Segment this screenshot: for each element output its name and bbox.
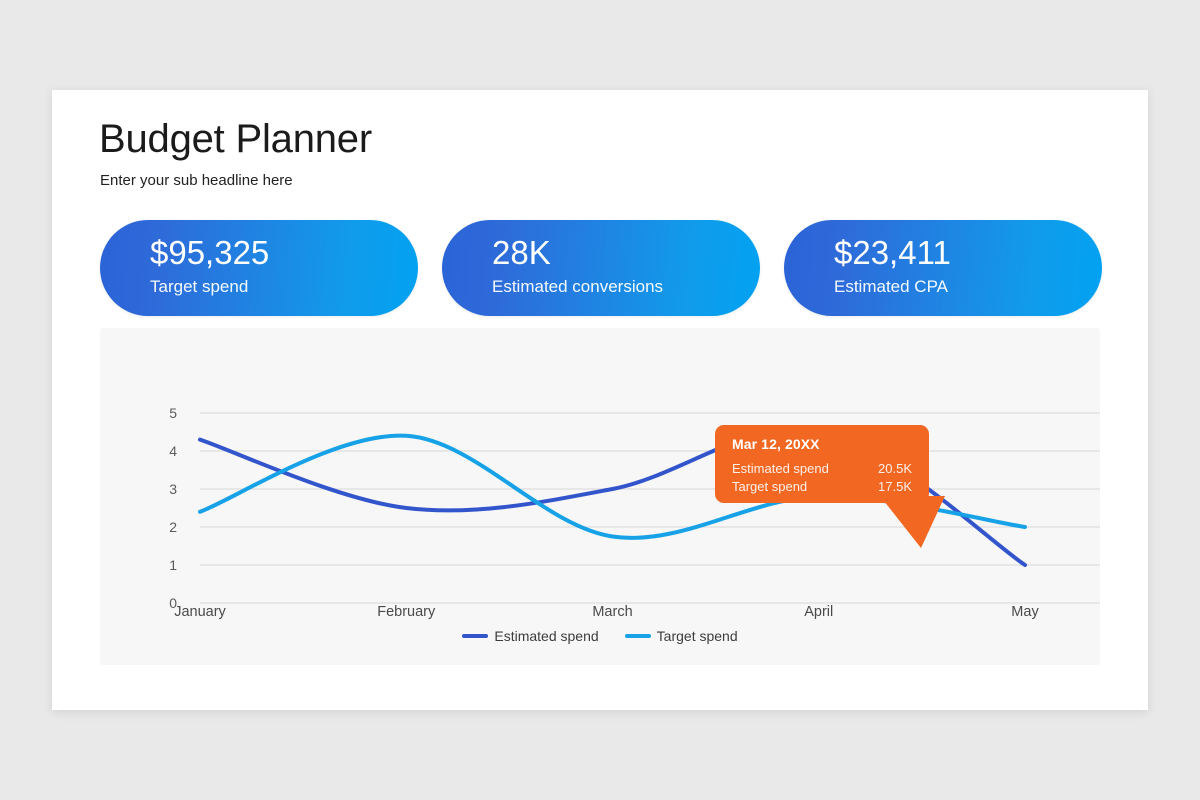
x-axis-tick: March	[543, 604, 683, 620]
legend-item[interactable]: Estimated spend	[462, 628, 598, 644]
x-axis-tick: May	[955, 604, 1095, 620]
y-axis-tick: 2	[155, 520, 177, 534]
kpi-card-row: $95,325 Target spend 28K Estimated conve…	[100, 220, 1102, 316]
page-subtitle: Enter your sub headline here	[100, 172, 293, 189]
y-axis-tick: 5	[155, 406, 177, 420]
chart-legend: Estimated spendTarget spend	[100, 628, 1100, 644]
y-axis-tick: 3	[155, 482, 177, 496]
chart-panel: 012345 JanuaryFebruaryMarchAprilMay Mar …	[100, 328, 1100, 665]
kpi-card-target-spend[interactable]: $95,325 Target spend	[100, 220, 418, 316]
slide-card: Budget Planner Enter your sub headline h…	[52, 90, 1148, 710]
kpi-label: Estimated conversions	[492, 277, 663, 297]
tooltip-row-label: Target spend	[732, 479, 807, 494]
y-axis-tick: 4	[155, 444, 177, 458]
kpi-card-estimated-conversions[interactable]: 28K Estimated conversions	[442, 220, 760, 316]
tooltip-title: Mar 12, 20XX	[732, 436, 820, 452]
kpi-label: Estimated CPA	[834, 277, 948, 297]
x-axis-tick: January	[130, 604, 270, 620]
tooltip-row-label: Estimated spend	[732, 461, 829, 476]
tooltip-row-value: 17.5K	[878, 479, 912, 494]
legend-color-swatch	[462, 634, 488, 638]
kpi-value: $95,325	[150, 234, 269, 272]
legend-label: Estimated spend	[494, 628, 598, 644]
legend-label: Target spend	[657, 628, 738, 644]
kpi-value: 28K	[492, 234, 551, 272]
legend-item[interactable]: Target spend	[625, 628, 738, 644]
kpi-card-estimated-cpa[interactable]: $23,411 Estimated CPA	[784, 220, 1102, 316]
kpi-label: Target spend	[150, 277, 248, 297]
legend-color-swatch	[625, 634, 651, 638]
x-axis-tick: April	[749, 604, 889, 620]
chart-gridlines	[200, 413, 1100, 603]
page-title: Budget Planner	[99, 117, 372, 161]
chart-tooltip[interactable]: Mar 12, 20XX Estimated spend 20.5K Targe…	[715, 425, 929, 503]
tooltip-row: Estimated spend 20.5K	[732, 461, 912, 479]
tooltip-pointer-icon	[715, 496, 945, 548]
tooltip-row-value: 20.5K	[878, 461, 912, 476]
kpi-value: $23,411	[834, 234, 951, 272]
y-axis-tick: 1	[155, 558, 177, 572]
x-axis-tick: February	[336, 604, 476, 620]
tooltip-row: Target spend 17.5K	[732, 479, 912, 497]
slide-canvas: Budget Planner Enter your sub headline h…	[0, 0, 1200, 800]
